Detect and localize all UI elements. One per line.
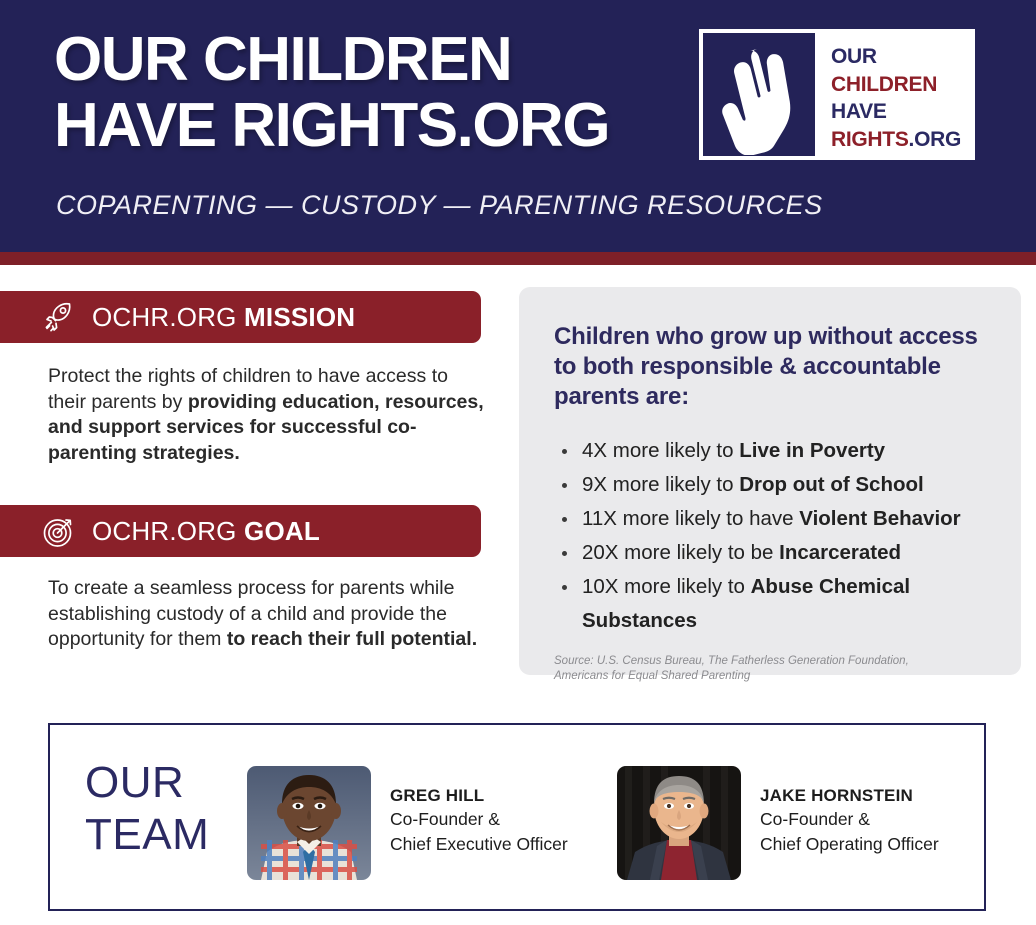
logo-line-our: OUR	[831, 43, 971, 71]
member-role: Co-Founder & Chief Executive Officer	[390, 807, 568, 857]
mission-label-bold: MISSION	[244, 302, 355, 332]
team-member: JAKE HORNSTEIN Co-Founder & Chief Operat…	[617, 766, 939, 880]
logo-line-children: CHILDREN	[831, 71, 971, 99]
page-subtitle: COPARENTING — CUSTODY — PARENTING RESOUR…	[56, 190, 823, 221]
goal-banner: OCHR.ORG GOAL	[0, 505, 481, 557]
stat-normal: 20X more likely to be	[582, 541, 779, 564]
stat-normal: 10X more likely to	[582, 575, 751, 598]
statistics-source: Source: U.S. Census Bureau, The Fatherle…	[554, 654, 991, 684]
statistics-list: 4X more likely to Live in Poverty 9X mor…	[554, 434, 991, 638]
page-header: OUR CHILDREN HAVE RIGHTS.ORG COPARENTING…	[0, 0, 1036, 252]
logo-line-rights-org: RIGHTS.ORG	[831, 126, 971, 154]
team-member: GREG HILL Co-Founder & Chief Executive O…	[247, 766, 568, 880]
logo-hand-panel	[703, 33, 815, 156]
member-name: JAKE HORNSTEIN	[760, 786, 939, 806]
list-item: 20X more likely to be Incarcerated	[554, 536, 991, 570]
stat-bold: Drop out of School	[739, 473, 923, 496]
list-item: 10X more likely to Abuse Chemical Substa…	[554, 570, 991, 638]
stat-normal: 11X more likely to have	[582, 507, 799, 530]
goal-label-bold: GOAL	[244, 516, 320, 546]
goal-label-light: OCHR.ORG	[92, 516, 244, 546]
team-section: OUR TEAM	[48, 723, 986, 911]
goal-banner-label: OCHR.ORG GOAL	[92, 516, 320, 547]
two-hands-icon	[709, 42, 809, 155]
page-title: OUR CHILDREN HAVE RIGHTS.ORG	[54, 27, 609, 159]
mission-banner: OCHR.ORG MISSION	[0, 291, 481, 343]
statistics-panel: Children who grow up without access to b…	[519, 287, 1021, 675]
stat-normal: 9X more likely to	[582, 473, 739, 496]
member-info: GREG HILL Co-Founder & Chief Executive O…	[390, 766, 568, 857]
logo-line-have: HAVE	[831, 98, 971, 126]
rocket-icon	[40, 298, 78, 336]
mission-text: Protect the rights of children to have a…	[48, 364, 484, 466]
mission-label-light: OCHR.ORG	[92, 302, 244, 332]
goal-text-bold: to reach their full potential.	[227, 628, 477, 650]
member-name: GREG HILL	[390, 786, 568, 806]
portrait-greg-hill	[247, 766, 371, 880]
list-item: 11X more likely to have Violent Behavior	[554, 502, 991, 536]
target-icon	[40, 512, 78, 550]
member-info: JAKE HORNSTEIN Co-Founder & Chief Operat…	[760, 766, 939, 857]
site-logo[interactable]: OUR CHILDREN HAVE RIGHTS.ORG	[699, 29, 975, 160]
list-item: 9X more likely to Drop out of School	[554, 468, 991, 502]
statistics-heading: Children who grow up without access to b…	[554, 322, 991, 412]
portrait-jake-hornstein	[617, 766, 741, 880]
list-item: 4X more likely to Live in Poverty	[554, 434, 991, 468]
stat-bold: Violent Behavior	[799, 507, 960, 530]
stat-normal: 4X more likely to	[582, 439, 739, 462]
stat-bold: Incarcerated	[779, 541, 901, 564]
logo-org-text: .ORG	[909, 128, 961, 151]
member-role: Co-Founder & Chief Operating Officer	[760, 807, 939, 857]
stat-bold: Live in Poverty	[739, 439, 885, 462]
logo-text-panel: OUR CHILDREN HAVE RIGHTS.ORG	[815, 33, 971, 156]
logo-rights-text: RIGHTS	[831, 128, 909, 151]
mission-banner-label: OCHR.ORG MISSION	[92, 302, 355, 333]
team-title: OUR TEAM	[85, 757, 209, 861]
goal-text: To create a seamless process for parents…	[48, 576, 484, 653]
header-divider-stripe	[0, 252, 1036, 265]
